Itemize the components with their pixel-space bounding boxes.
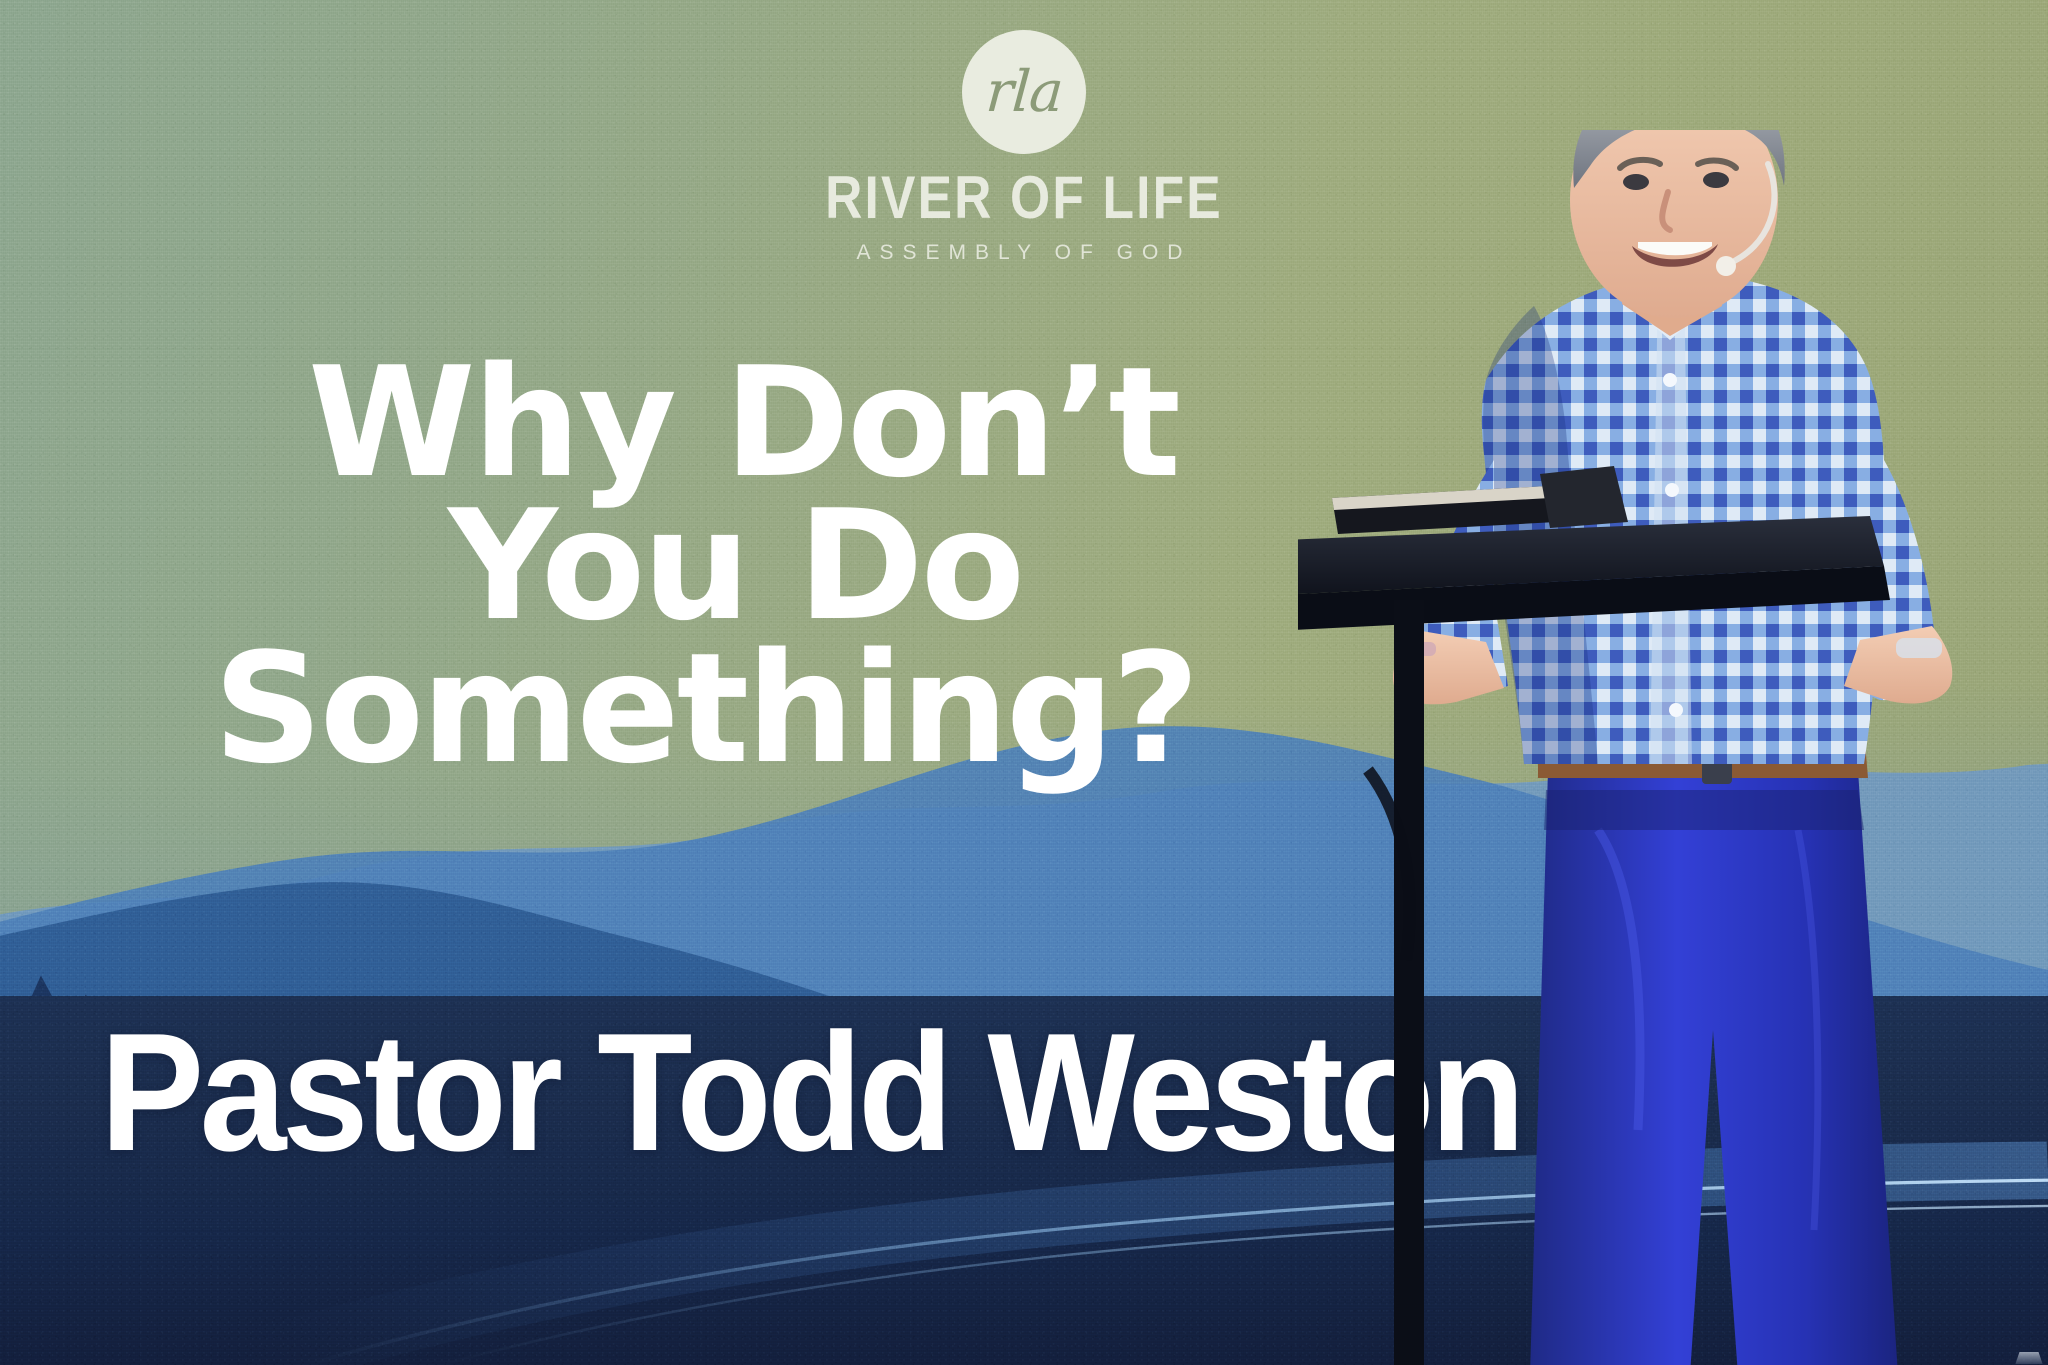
title-line-2: You Do bbox=[20, 495, 1450, 638]
sermon-title-slide: rla RIVER OF LIFE ASSEMBLY OF GOD Why Do… bbox=[0, 0, 2048, 1365]
speaker-pants bbox=[1530, 770, 1898, 1365]
church-name: RIVER OF LIFE bbox=[800, 168, 1247, 228]
title-line-1: Why Don’t bbox=[28, 352, 1458, 495]
rla-monogram-icon: rla bbox=[984, 64, 1064, 121]
church-affiliation: ASSEMBLY OF GOD bbox=[764, 242, 1284, 263]
speaker-photo bbox=[1298, 130, 2048, 1365]
logo-circle-badge: rla bbox=[962, 30, 1086, 154]
church-logo: rla RIVER OF LIFE ASSEMBLY OF GOD bbox=[764, 30, 1284, 263]
title-line-3: Something? bbox=[0, 638, 1420, 781]
sermon-title: Why Don’t You Do Something? bbox=[0, 352, 1430, 781]
